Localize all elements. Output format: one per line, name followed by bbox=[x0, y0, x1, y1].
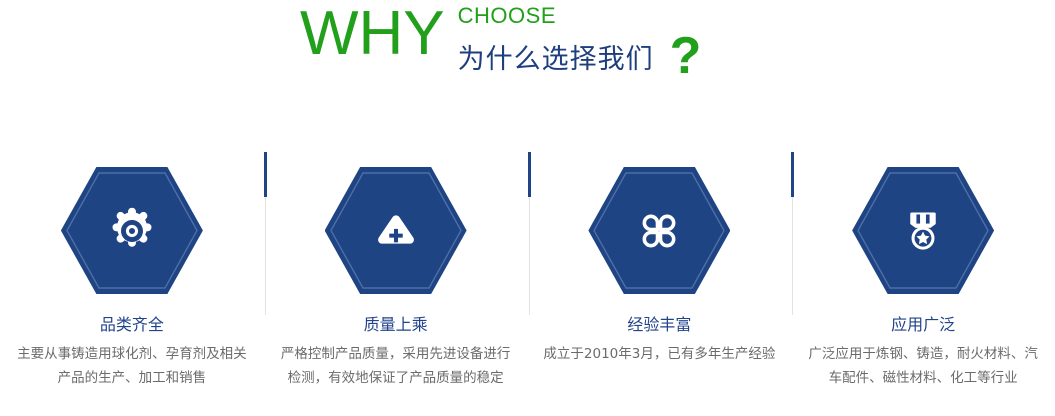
question-mark-icon: ? bbox=[670, 37, 702, 75]
medal-star-icon bbox=[896, 204, 950, 258]
gear-icon bbox=[105, 204, 159, 258]
triangle-plus-icon bbox=[369, 204, 423, 258]
title-right-group: CHOOSE 为什么选择我们 ? bbox=[458, 0, 702, 76]
title-chinese-subtitle: 为什么选择我们 bbox=[458, 44, 654, 76]
feature-card[interactable]: 应用广泛 广泛应用于炼钢、铸造，耐火材料、汽车配件、磁性材料、化工等行业 bbox=[791, 140, 1055, 416]
hexagon-badge bbox=[588, 167, 730, 294]
title-why: WHY bbox=[300, 0, 445, 68]
card-title: 经验丰富 bbox=[528, 315, 792, 335]
card-title: 品类齐全 bbox=[0, 315, 264, 335]
clover-icon bbox=[632, 204, 686, 258]
header-title-group: WHY CHOOSE 为什么选择我们 ? bbox=[300, 0, 701, 76]
card-description: 严格控制产品质量，采用先进设备进行检测，有效地保证了产品质量的稳定 bbox=[264, 342, 528, 390]
card-title: 质量上乘 bbox=[264, 315, 528, 335]
title-cn-row: 为什么选择我们 ? bbox=[458, 32, 702, 76]
card-title: 应用广泛 bbox=[791, 315, 1055, 335]
feature-card[interactable]: 质量上乘 严格控制产品质量，采用先进设备进行检测，有效地保证了产品质量的稳定 bbox=[264, 140, 528, 416]
card-description: 成立于2010年3月，已有多年生产经验 bbox=[528, 342, 792, 366]
feature-card[interactable]: 品类齐全 主要从事铸造用球化剂、孕育剂及相关产品的生产、加工和销售 bbox=[0, 140, 264, 416]
hexagon-badge bbox=[61, 167, 203, 294]
hexagon-badge bbox=[852, 167, 994, 294]
section-header: WHY CHOOSE 为什么选择我们 ? bbox=[0, 0, 1055, 95]
hexagon-badge bbox=[325, 167, 467, 294]
divider-blue-segment bbox=[528, 152, 531, 197]
title-choose: CHOOSE bbox=[458, 4, 702, 28]
divider-gray-segment bbox=[265, 197, 266, 315]
card-description: 广泛应用于炼钢、铸造，耐火材料、汽车配件、磁性材料、化工等行业 bbox=[791, 342, 1055, 390]
card-description: 主要从事铸造用球化剂、孕育剂及相关产品的生产、加工和销售 bbox=[0, 342, 264, 390]
feature-cards-row: 品类齐全 主要从事铸造用球化剂、孕育剂及相关产品的生产、加工和销售 bbox=[0, 140, 1055, 416]
divider-gray-segment bbox=[792, 197, 793, 315]
divider-blue-segment bbox=[791, 152, 794, 197]
feature-card[interactable]: 经验丰富 成立于2010年3月，已有多年生产经验 bbox=[528, 140, 792, 416]
divider-gray-segment bbox=[529, 197, 530, 315]
divider-blue-segment bbox=[264, 152, 267, 197]
